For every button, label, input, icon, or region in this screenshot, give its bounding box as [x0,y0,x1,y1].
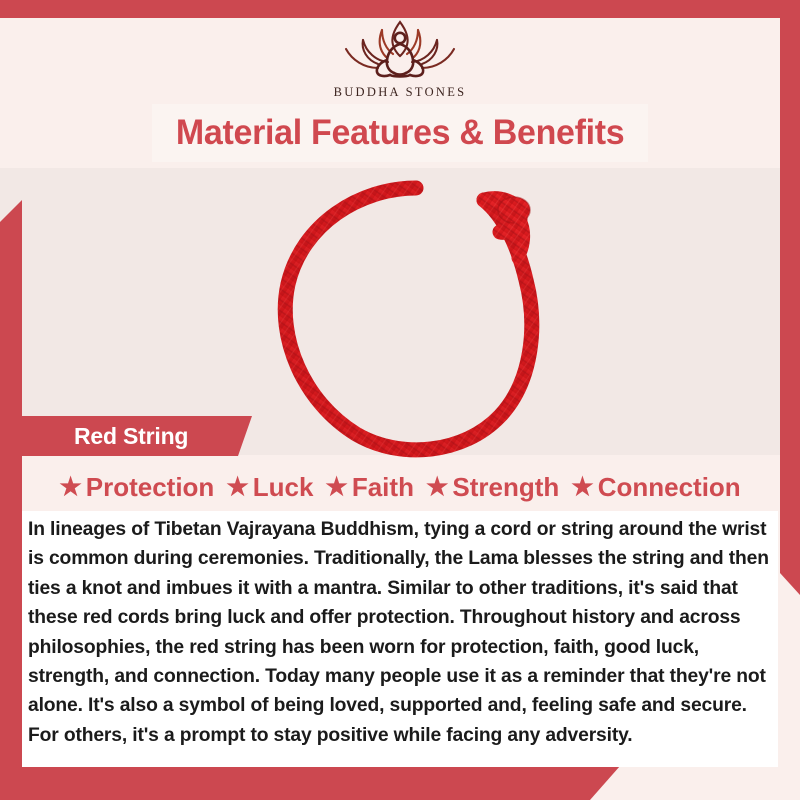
benefit-label: Strength [452,472,559,503]
benefit-item-connection: ★ Connection [571,472,740,503]
benefit-label: Faith [352,472,414,503]
lotus-meditation-icon [336,16,464,82]
benefit-label: Connection [598,472,741,503]
benefit-label: Luck [253,472,314,503]
description-text: In lineages of Tibetan Vajrayana Buddhis… [28,515,770,750]
brand-name: BUDDHA STONES [334,85,467,100]
benefits-row: ★ Protection ★ Luck ★ Faith ★ Strength ★… [0,466,800,508]
brand-logo: BUDDHA STONES [0,16,800,100]
benefit-item-protection: ★ Protection [59,472,214,503]
product-image [268,176,558,466]
benefit-item-faith: ★ Faith [325,472,414,503]
bottom-accent-bar [0,766,620,800]
star-icon: ★ [226,475,248,500]
product-label-banner: Red String [22,416,252,456]
benefit-item-luck: ★ Luck [226,472,313,503]
star-icon: ★ [571,475,593,500]
page-title: Material Features & Benefits [176,113,624,153]
star-icon: ★ [59,475,81,500]
benefit-label: Protection [86,472,215,503]
product-label: Red String [74,423,188,450]
infographic-canvas: BUDDHA STONES Material Features & Benefi… [0,0,800,800]
title-banner: Material Features & Benefits [152,104,648,162]
benefit-item-strength: ★ Strength [426,472,559,503]
description-block: In lineages of Tibetan Vajrayana Buddhis… [22,511,778,767]
star-icon: ★ [325,475,347,500]
star-icon: ★ [426,475,448,500]
